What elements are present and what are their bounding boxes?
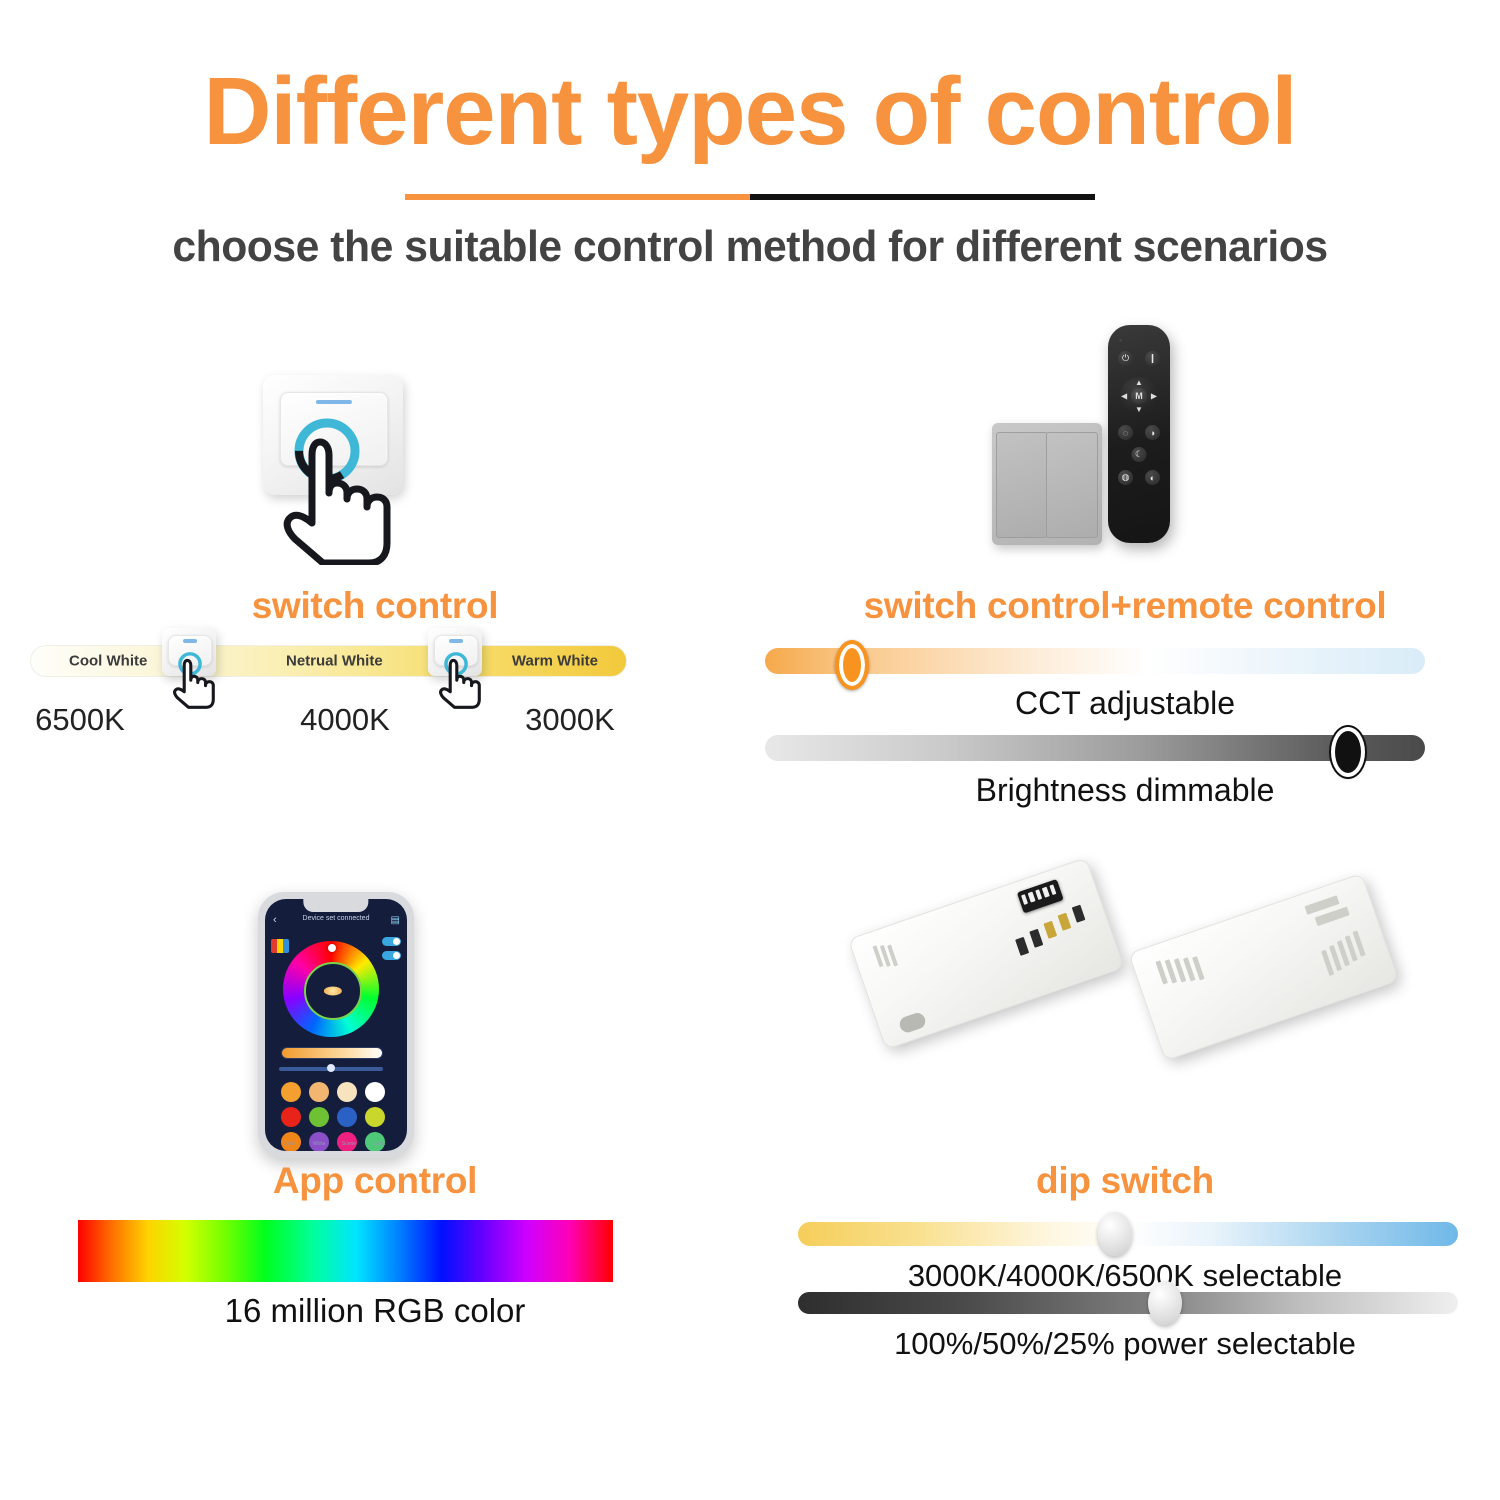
gray-wall-switch xyxy=(992,423,1102,545)
dip-pin-3[interactable] xyxy=(1035,889,1043,900)
kelvin-label-4000k: 4000K xyxy=(275,702,415,738)
app-nav-scene[interactable]: Scene xyxy=(335,1141,363,1147)
section-title-app-control: App control xyxy=(0,1160,750,1202)
gray-switch-key-left[interactable] xyxy=(996,432,1048,539)
mini-switch-led-2 xyxy=(449,639,463,643)
brightness-dimmable-label: Brightness dimmable xyxy=(750,772,1500,809)
dip-cct-knob[interactable] xyxy=(1098,1212,1132,1256)
app-top-bar: ‹ Device set connected ▤ xyxy=(265,915,407,935)
cct-adjustable-slider[interactable] xyxy=(765,648,1425,674)
brightness-dimmable-slider[interactable] xyxy=(765,735,1425,761)
remote-arrow-left-icon[interactable]: ◀ xyxy=(1121,392,1127,401)
section-title-dip-switch: dip switch xyxy=(750,1160,1500,1202)
cct-label-neutral-white: Netrual White xyxy=(286,653,383,670)
kelvin-label-3000k: 3000K xyxy=(500,702,640,738)
brightness-slider-knob[interactable] xyxy=(1331,727,1365,777)
swatch-2[interactable] xyxy=(309,1082,329,1102)
swatch-1[interactable] xyxy=(281,1082,301,1102)
app-toggle-1[interactable] xyxy=(382,937,401,946)
dip-pin-5[interactable] xyxy=(1049,884,1057,895)
dip-cct-bar[interactable] xyxy=(798,1222,1458,1246)
remote-mode-button[interactable]: M xyxy=(1131,388,1147,404)
section-switch-remote-control: ⏻ ❙ ▲ ▼ ◀ ▶ M ◌ ◑ ☾ ◍ ◐ switch control+r… xyxy=(750,310,1500,810)
section-title-switch-remote: switch control+remote control xyxy=(750,585,1500,627)
dip-power-label: 100%/50%/25% power selectable xyxy=(750,1326,1500,1362)
cct-switch-handle-2[interactable] xyxy=(428,628,498,718)
cct-label-cool-white: Cool White xyxy=(69,653,147,670)
page-subtitle: choose the suitable control method for d… xyxy=(23,222,1478,272)
section-title-switch-control: switch control xyxy=(0,585,750,627)
switch-indicator-led xyxy=(316,400,352,404)
remote-timer-icon[interactable]: ◐ xyxy=(1145,470,1160,485)
remote-led-indicator xyxy=(1119,339,1123,343)
driver-vent-a5 xyxy=(1015,937,1029,956)
mini-tap-hand-icon-2 xyxy=(432,644,494,714)
app-nav-color[interactable]: Color xyxy=(275,1141,303,1147)
rgb-preset-swatch[interactable] xyxy=(271,939,289,953)
cct-gradient-bar[interactable]: Cool White Netrual White Warm White xyxy=(30,645,627,677)
app-secondary-slider[interactable] xyxy=(279,1067,383,1071)
mini-tap-hand-icon-1 xyxy=(166,644,228,714)
infographic-page: Different types of control choose the su… xyxy=(0,0,1500,1500)
rgb-color-bar[interactable] xyxy=(78,1220,613,1282)
phone-notch xyxy=(303,899,368,912)
driver-vent-a3 xyxy=(1043,921,1057,939)
title-divider xyxy=(405,194,1095,200)
remote-moon-icon[interactable]: ☾ xyxy=(1132,447,1147,462)
page-title: Different types of control xyxy=(15,62,1485,163)
grid-menu-icon[interactable]: ▤ xyxy=(391,915,399,926)
swatch-7[interactable] xyxy=(337,1107,357,1127)
dip-cct-label: 3000K/4000K/6500K selectable xyxy=(750,1258,1500,1294)
rgb-bar-label: 16 million RGB color xyxy=(0,1292,750,1330)
dip-power-knob[interactable] xyxy=(1148,1281,1182,1325)
swatch-6[interactable] xyxy=(309,1107,329,1127)
app-secondary-slider-knob[interactable] xyxy=(327,1064,335,1072)
section-switch-control: switch control Cool White Netrual White … xyxy=(0,310,750,810)
remote-brightness-icon[interactable]: ◑ xyxy=(1145,425,1160,440)
remote-arrow-right-icon[interactable]: ▶ xyxy=(1151,392,1157,401)
remote-power-on-icon[interactable]: ❙ xyxy=(1145,351,1160,366)
tap-hand-icon xyxy=(265,415,425,565)
color-wheel-selector[interactable] xyxy=(328,944,336,952)
divider-orange-segment xyxy=(405,194,750,200)
divider-black-segment xyxy=(750,194,1095,200)
cct-switch-handle-1[interactable] xyxy=(162,628,232,718)
remote-control: ⏻ ❙ ▲ ▼ ◀ ▶ M ◌ ◑ ☾ ◍ ◐ xyxy=(1108,325,1170,543)
dip-pin-2[interactable] xyxy=(1028,891,1036,902)
cct-label-warm-white: Warm White xyxy=(512,653,598,670)
kelvin-label-6500k: 6500K xyxy=(10,702,150,738)
dip-switch-block[interactable] xyxy=(1017,879,1064,913)
dip-pin-4[interactable] xyxy=(1042,886,1050,897)
swatch-5[interactable] xyxy=(281,1107,301,1127)
smartphone: ‹ Device set connected ▤ xyxy=(258,892,414,1158)
app-screen-title: Device set connected xyxy=(265,915,407,922)
swatch-3[interactable] xyxy=(337,1082,357,1102)
mini-switch-led-1 xyxy=(183,639,197,643)
driver-vent-a2 xyxy=(1058,913,1072,931)
driver-vent-a4 xyxy=(1029,929,1043,948)
app-toggle-2[interactable] xyxy=(382,951,401,960)
section-dip-switch: dip switch 3000K/4000K/6500K selectable … xyxy=(750,860,1500,1420)
remote-arrow-down-icon[interactable]: ▼ xyxy=(1135,405,1143,414)
dip-pin-1[interactable] xyxy=(1020,894,1028,905)
remote-power-off-icon[interactable]: ⏻ xyxy=(1118,351,1133,366)
swatch-4[interactable] xyxy=(365,1082,385,1102)
remote-scene-icon[interactable]: ◍ xyxy=(1118,470,1133,485)
gray-switch-key-right[interactable] xyxy=(1046,432,1098,539)
app-brightness-slider[interactable] xyxy=(281,1047,383,1059)
app-nav-white[interactable]: White xyxy=(305,1141,333,1147)
section-app-control: ‹ Device set connected ▤ xyxy=(0,860,750,1420)
led-driver-front xyxy=(848,857,1124,1050)
swatch-8[interactable] xyxy=(365,1107,385,1127)
header: Different types of control choose the su… xyxy=(0,0,1500,300)
phone-screen: ‹ Device set connected ▤ xyxy=(265,899,407,1151)
color-wheel-center xyxy=(324,986,342,995)
dip-power-bar[interactable] xyxy=(798,1292,1458,1314)
color-wheel[interactable] xyxy=(283,941,379,1037)
driver-vent-a1 xyxy=(1072,905,1086,923)
remote-circle-icon[interactable]: ◌ xyxy=(1118,425,1133,440)
driver-cable-port xyxy=(898,1011,928,1035)
led-driver-back xyxy=(1128,873,1399,1061)
remote-arrow-up-icon[interactable]: ▲ xyxy=(1135,378,1143,387)
cct-slider-knob[interactable] xyxy=(835,640,869,690)
wall-switch-illustration xyxy=(255,375,455,565)
remote-dpad[interactable]: ▲ ▼ ◀ ▶ M xyxy=(1120,377,1158,415)
app-nav-music[interactable]: Music xyxy=(365,1141,393,1147)
cct-adjustable-label: CCT adjustable xyxy=(750,685,1500,722)
color-wheel-inner-ring xyxy=(304,962,362,1020)
